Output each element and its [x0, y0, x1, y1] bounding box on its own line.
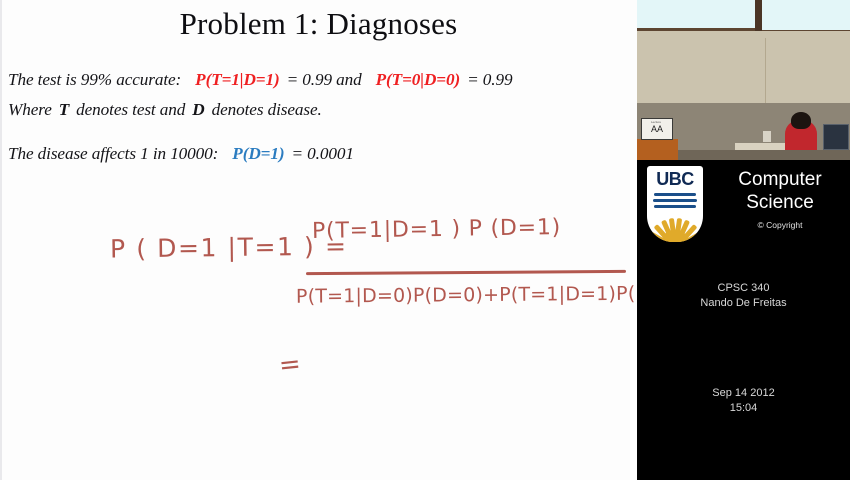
slide-text-line-notation: WhereTdenotes test andDdenotes disease. [8, 100, 322, 120]
probability-expression-t0d0: P(T=0|D=0) [376, 70, 460, 89]
course-code: CPSC 340 [637, 281, 850, 296]
handwritten-fraction-bar [306, 270, 626, 275]
ubc-logo-wordmark: Computer Science © Copyright [713, 168, 847, 230]
wave-line-1 [654, 193, 696, 196]
recording-time: 15:04 [637, 401, 850, 416]
room-sign-caption: Lecture [645, 120, 667, 124]
projection-screen-wall [637, 31, 850, 104]
symbol-t: T [59, 100, 69, 119]
logo-line-science: Science [713, 191, 847, 214]
notation-mid-text: denotes test and [76, 100, 185, 119]
wave-line-3 [654, 205, 696, 208]
classroom-video-frame: AA Lecture [637, 0, 850, 160]
ubc-shield-icon: UBC [647, 166, 703, 242]
handwritten-fraction-denominator: P(T=1|D=0)P(D=0)+P(T=1|D=1)P(D=1) [296, 282, 637, 307]
notation-prefix-text: Where [8, 100, 52, 119]
ubc-logo-block: UBC Computer Science [637, 160, 850, 256]
handwritten-annotation-layer: P ( D=1 |T=1 ) = P(T=1|D=1 ) P (D=1) P(T… [0, 205, 637, 405]
handwritten-equals-sign: = [277, 349, 302, 381]
person-head [791, 112, 811, 129]
notation-post-text: denotes disease. [212, 100, 322, 119]
accuracy-mid-text-2: = 0.99 [467, 70, 512, 89]
slide-text-line-accuracy: The test is 99% accurate:P(T=1|D=1)= 0.9… [8, 70, 512, 90]
wooden-desk [637, 139, 678, 160]
ubc-shield-text: UBC [647, 169, 703, 190]
laptop [823, 124, 849, 150]
wall-seam [765, 38, 766, 103]
accuracy-prefix-text: The test is 99% accurate: [8, 70, 181, 89]
cup [763, 131, 771, 142]
slide-panel: Problem 1: Diagnoses The test is 99% acc… [0, 0, 637, 480]
course-info-block: CPSC 340 Nando De Freitas [637, 281, 850, 311]
probability-expression-d1: P(D=1) [232, 144, 284, 163]
symbol-d: D [192, 100, 204, 119]
slide-title: Problem 1: Diagnoses [0, 6, 637, 42]
accuracy-mid-text-1: = 0.99 and [287, 70, 362, 89]
sunburst-icon [651, 210, 699, 242]
recording-datetime-block: Sep 14 2012 15:04 [637, 386, 850, 416]
instructor-name: Nando De Freitas [637, 296, 850, 311]
prevalence-prefix-text: The disease affects 1 in 10000: [8, 144, 218, 163]
slide-text-line-prevalence: The disease affects 1 in 10000:P(D=1)= 0… [8, 144, 354, 164]
window-right [761, 0, 850, 33]
logo-line-computer: Computer [713, 168, 847, 191]
copyright-notice: © Copyright [713, 220, 847, 230]
wave-line-2 [653, 199, 697, 202]
video-panel[interactable]: AA Lecture UBC [637, 0, 850, 480]
handwritten-fraction-numerator: P(T=1|D=1 ) P (D=1) [312, 215, 561, 244]
recording-date: Sep 14 2012 [637, 386, 850, 401]
probability-expression-t1d1: P(T=1|D=1) [195, 70, 279, 89]
prevalence-post-text: = 0.0001 [291, 144, 353, 163]
lecture-recording-screen: Problem 1: Diagnoses The test is 99% acc… [0, 0, 850, 480]
window-mullion [755, 0, 762, 32]
window-left [637, 0, 755, 31]
